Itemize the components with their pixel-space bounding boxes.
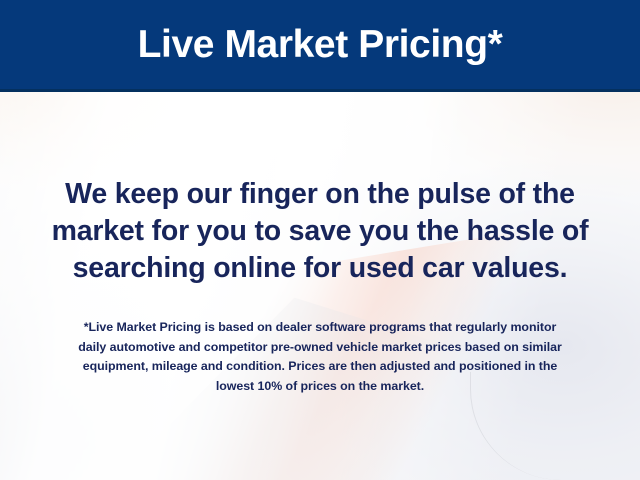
headline-block: We keep our finger on the pulse of the m… <box>0 176 640 287</box>
header-banner-underline <box>0 89 640 92</box>
disclaimer-block: *Live Market Pricing is based on dealer … <box>22 318 618 396</box>
disclaimer-line-4: lowest 10% of prices on the market. <box>22 377 618 397</box>
disclaimer-line-3: equipment, mileage and condition. Prices… <box>22 357 618 377</box>
live-market-pricing-graphic: Live Market Pricing* We keep our finger … <box>0 0 640 480</box>
page-title: Live Market Pricing* <box>0 0 640 89</box>
headline-line-2: market for you to save you the hassle of <box>0 213 640 250</box>
headline-line-1: We keep our finger on the pulse of the <box>0 176 640 213</box>
headline-line-3: searching online for used car values. <box>0 250 640 287</box>
disclaimer-line-2: daily automotive and competitor pre-owne… <box>22 338 618 358</box>
disclaimer-line-1: *Live Market Pricing is based on dealer … <box>22 318 618 338</box>
